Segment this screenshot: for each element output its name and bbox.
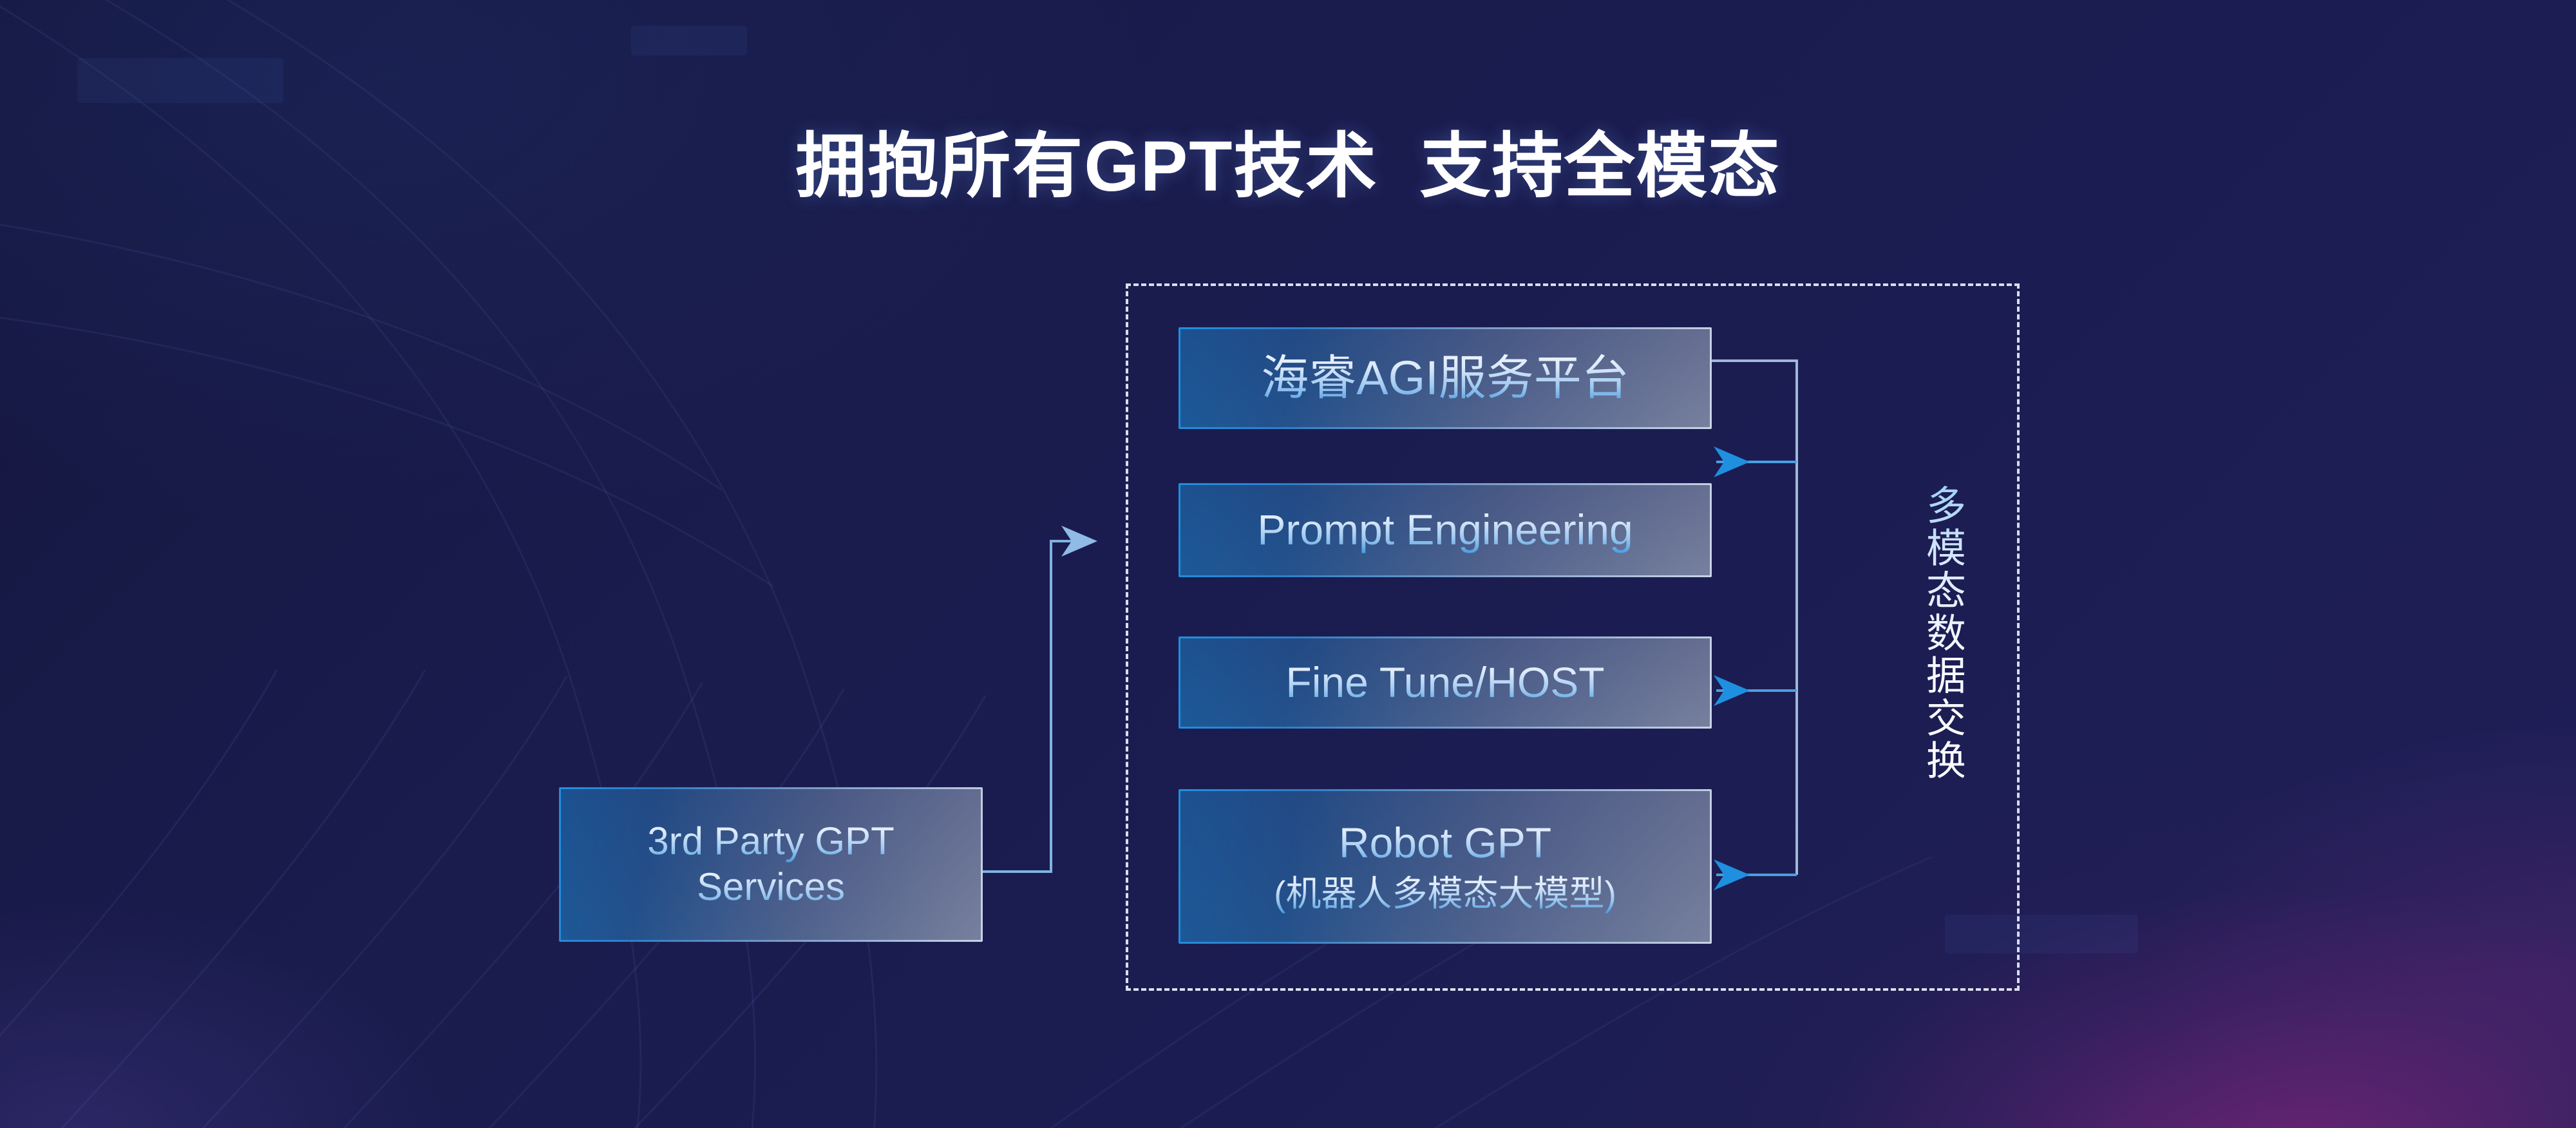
card-prompt-engineering[interactable]: Prompt Engineering (1179, 483, 1712, 577)
slide-canvas: 拥抱所有GPT技术 支持全模态 海睿 (0, 0, 2576, 1128)
card-robot-gpt[interactable]: Robot GPT (机器人多模态大模型) (1179, 789, 1712, 944)
card-fine-tune-host[interactable]: Fine Tune/HOST (1179, 636, 1712, 729)
card-prompt-engineering-label: Prompt Engineering (1257, 505, 1633, 555)
card-third-party-gpt-services[interactable]: 3rd Party GPT Services (559, 787, 983, 942)
card-agi-platform-label: 海睿AGI服务平台 (1261, 350, 1629, 406)
card-robot-gpt-title: Robot GPT (1339, 818, 1551, 868)
page-title: 拥抱所有GPT技术 支持全模态 (0, 108, 2576, 211)
card-agi-platform[interactable]: 海睿AGI服务平台 (1179, 327, 1712, 429)
multimodal-data-exchange-label: 多模态数据交换 (1906, 484, 1964, 782)
card-third-party-gpt-line2: Services (697, 865, 845, 910)
card-fine-tune-host-label: Fine Tune/HOST (1285, 658, 1604, 708)
card-third-party-gpt-line1: 3rd Party GPT (647, 819, 894, 865)
card-robot-gpt-subtitle: (机器人多模态大模型) (1274, 873, 1616, 915)
thirdparty-to-platform-wire (983, 541, 1095, 872)
